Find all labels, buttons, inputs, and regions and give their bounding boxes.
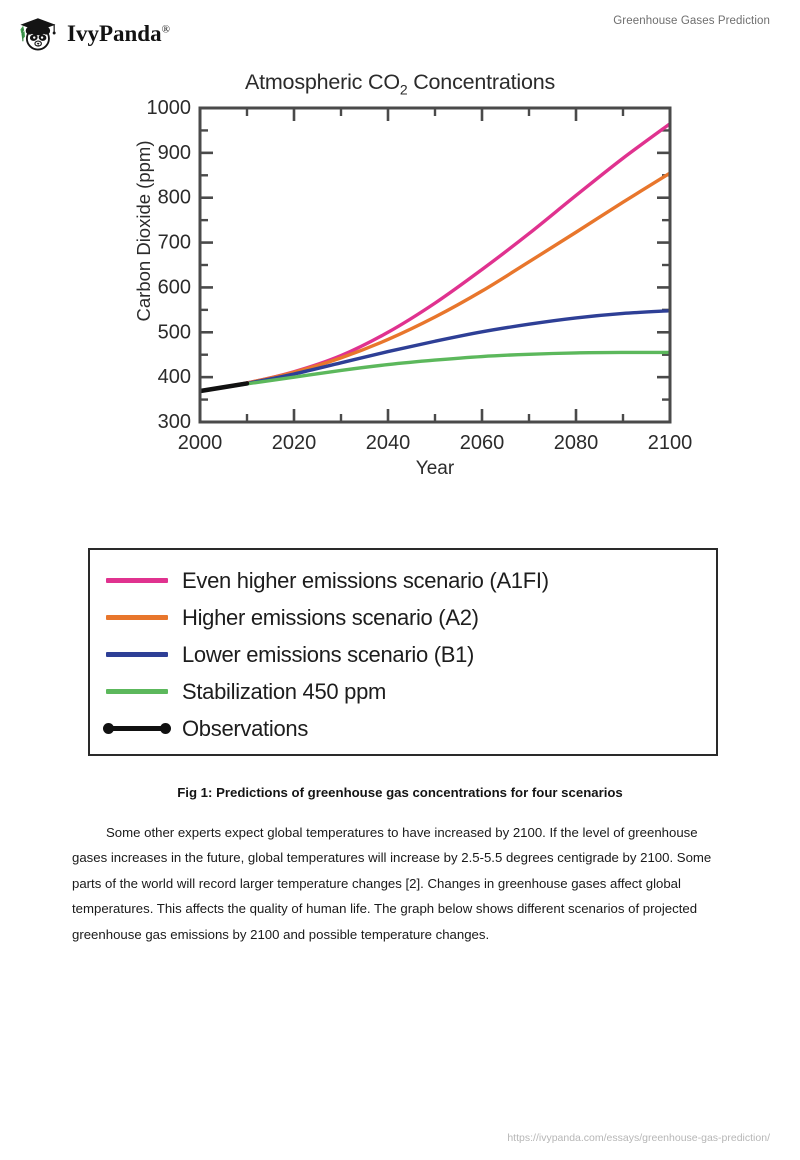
panda-graduate-logo-icon bbox=[14, 10, 60, 56]
legend-item: Lower emissions scenario (B1) bbox=[90, 636, 716, 673]
x-axis-label: Year bbox=[200, 458, 670, 480]
legend-label: Lower emissions scenario (B1) bbox=[182, 642, 474, 668]
legend-item: Stabilization 450 ppm bbox=[90, 673, 716, 710]
series-line bbox=[200, 352, 670, 391]
legend-swatch-icon bbox=[106, 652, 168, 657]
paragraph-text: Some other experts expect global tempera… bbox=[72, 825, 711, 942]
brand-logo-area[interactable]: IvyPanda® bbox=[14, 10, 170, 56]
y-tick-label: 500 bbox=[158, 321, 191, 343]
co2-line-chart: Atmospheric CO2 Concentrations Carbon Di… bbox=[100, 70, 700, 510]
chart-plot-svg: 3004005006007008009001000200020202040206… bbox=[100, 100, 700, 460]
y-tick-label: 800 bbox=[158, 187, 191, 209]
legend-swatch-icon bbox=[106, 578, 168, 583]
y-tick-label: 900 bbox=[158, 142, 191, 164]
y-tick-label: 700 bbox=[158, 232, 191, 254]
legend-item: Even higher emissions scenario (A1FI) bbox=[90, 562, 716, 599]
y-tick-label: 1000 bbox=[147, 100, 192, 119]
legend-swatch-icon bbox=[106, 726, 168, 731]
figure-caption: Fig 1: Predictions of greenhouse gas con… bbox=[0, 785, 800, 800]
legend-item: Observations bbox=[90, 710, 716, 747]
x-tick-label: 2060 bbox=[460, 432, 505, 454]
document-title: Greenhouse Gases Prediction bbox=[613, 15, 770, 27]
legend-swatch-icon bbox=[106, 689, 168, 694]
plot-frame bbox=[200, 108, 670, 422]
chart-title: Atmospheric CO2 Concentrations bbox=[100, 70, 700, 97]
page-header: IvyPanda® Greenhouse Gases Prediction bbox=[0, 0, 800, 62]
figure-region: Atmospheric CO2 Concentrations Carbon Di… bbox=[0, 62, 800, 762]
y-tick-label: 600 bbox=[158, 276, 191, 298]
legend-label: Observations bbox=[182, 716, 308, 742]
x-tick-label: 2080 bbox=[554, 432, 599, 454]
x-tick-label: 2000 bbox=[178, 432, 223, 454]
body-paragraph: Some other experts expect global tempera… bbox=[72, 820, 728, 947]
legend-label: Higher emissions scenario (A2) bbox=[182, 605, 479, 631]
brand-name: IvyPanda® bbox=[67, 21, 170, 47]
legend-label: Stabilization 450 ppm bbox=[182, 679, 386, 705]
x-tick-label: 2020 bbox=[272, 432, 317, 454]
chart-title-text: Atmospheric CO2 Concentrations bbox=[245, 70, 555, 94]
footer-source-url: https://ivypanda.com/essays/greenhouse-g… bbox=[0, 1132, 770, 1144]
series-line bbox=[200, 173, 670, 391]
registered-mark: ® bbox=[162, 23, 170, 35]
chart-legend: Even higher emissions scenario (A1FI)Hig… bbox=[88, 548, 718, 756]
legend-label: Even higher emissions scenario (A1FI) bbox=[182, 568, 549, 594]
series-line bbox=[200, 383, 247, 391]
x-tick-label: 2040 bbox=[366, 432, 411, 454]
legend-item: Higher emissions scenario (A2) bbox=[90, 599, 716, 636]
y-tick-label: 300 bbox=[158, 411, 191, 433]
legend-swatch-icon bbox=[106, 615, 168, 620]
x-tick-label: 2100 bbox=[648, 432, 693, 454]
y-tick-label: 400 bbox=[158, 366, 191, 388]
